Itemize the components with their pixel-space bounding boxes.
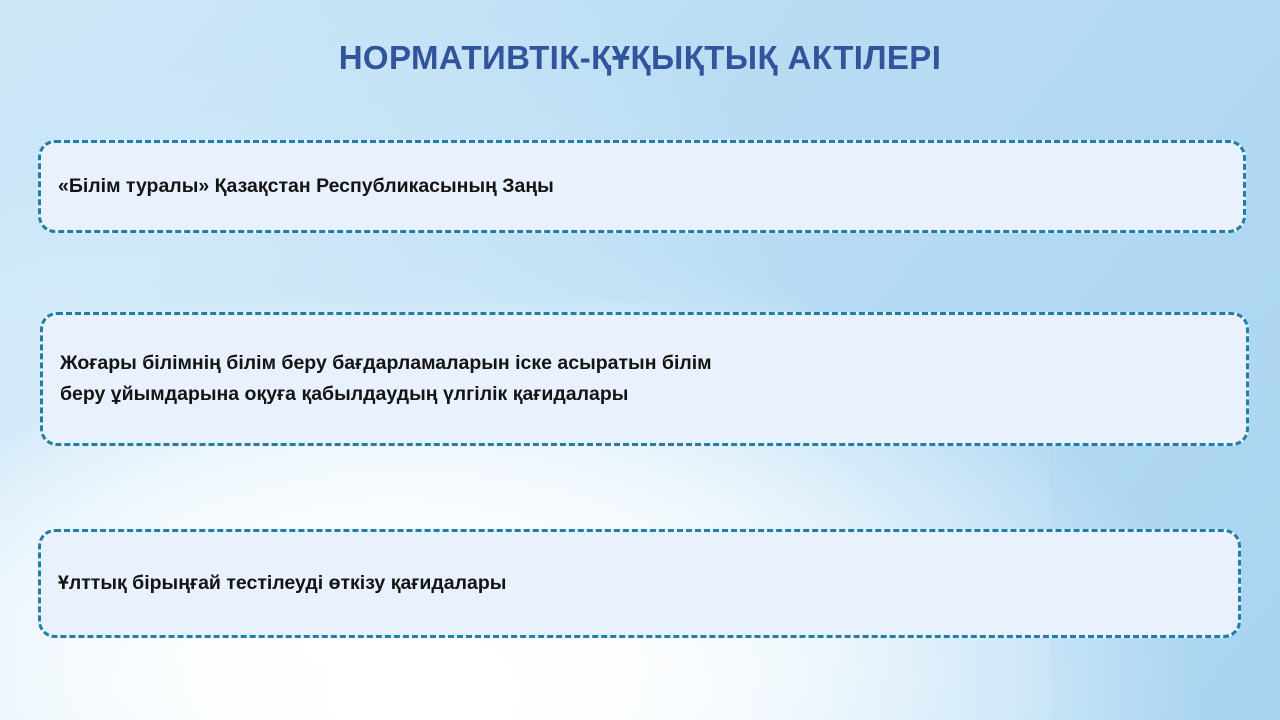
callout-list: «Білім туралы» Қазақстан Республикасының… — [0, 0, 1280, 720]
callout-box-text: Ұлттық бірыңғай тестілеуді өткізу қағида… — [41, 568, 520, 599]
callout-box-text: «Білім туралы» Қазақстан Республикасының… — [41, 171, 568, 202]
callout-box-law-on-education[interactable]: «Білім туралы» Қазақстан Республикасының… — [38, 140, 1246, 233]
callout-box-unified-testing-rules[interactable]: Ұлттық бірыңғай тестілеуді өткізу қағида… — [38, 529, 1241, 638]
callout-box-admission-rules[interactable]: Жоғары білімнің білім беру бағдарламалар… — [40, 312, 1249, 446]
slide-canvas: НОРМАТИВТІК-ҚҰҚЫҚТЫҚ АКТІЛЕРІ «Білім тур… — [0, 0, 1280, 720]
callout-box-text: Жоғары білімнің білім беру бағдарламалар… — [43, 348, 726, 410]
